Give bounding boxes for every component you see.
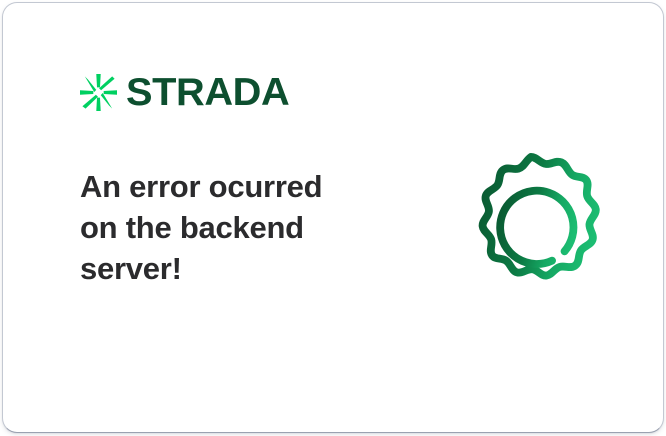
- error-message-line-2: on the backend: [80, 207, 380, 248]
- gear-inner-arc: [500, 191, 573, 264]
- error-message-line-1: An error ocurred: [80, 166, 380, 207]
- error-message-line-3: server!: [80, 248, 380, 289]
- brand-logo: STRADA: [80, 73, 286, 112]
- gear-illustration: [453, 145, 609, 303]
- error-card: STRADA An error ocurred on the backend s…: [2, 2, 664, 433]
- brand-wordmark: STRADA: [126, 73, 289, 112]
- strada-asterisk-icon: [80, 74, 117, 112]
- error-message: An error ocurred on the backend server!: [80, 166, 380, 289]
